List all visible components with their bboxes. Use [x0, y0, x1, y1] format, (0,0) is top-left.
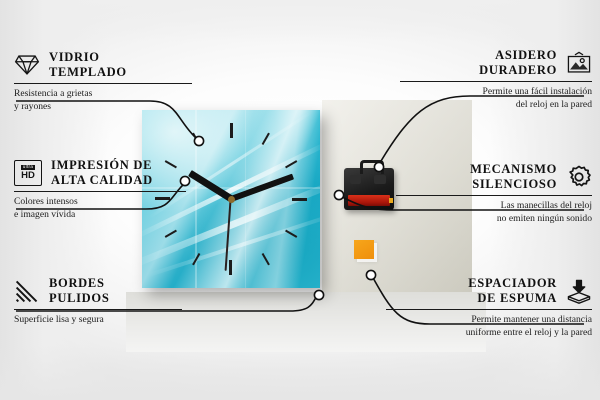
feature-title: PULIDOS [49, 291, 109, 306]
feature-title: SILENCIOSO [396, 177, 557, 192]
clock-center-hub [228, 196, 235, 203]
feature-title: ESPACIADOR [386, 276, 557, 291]
feature-bordes-pulidos: BORDES PULIDOS Superficie lisa y segura [14, 276, 182, 326]
feature-desc: e imagen vívida [14, 209, 186, 221]
feature-title: DE ESPUMA [386, 291, 557, 306]
mechanism-knob-2 [374, 175, 386, 184]
diagonal-lines-icon [14, 278, 40, 304]
background-gradient-bottom [0, 345, 600, 400]
divider [14, 191, 186, 192]
feature-desc: y rayones [14, 101, 192, 113]
divider [396, 195, 592, 196]
feature-title: IMPRESIÓN DE [51, 158, 153, 173]
feature-title: TEMPLADO [49, 65, 127, 80]
divider [400, 81, 592, 82]
feature-title: BORDES [49, 276, 109, 291]
feature-impresion-alta-calidad: ultra HD IMPRESIÓN DE ALTA CALIDAD Color… [14, 158, 186, 221]
feature-title: ALTA CALIDAD [51, 173, 153, 188]
foam-spacer-arrow-icon [566, 278, 592, 304]
clock-mechanism [344, 168, 394, 210]
feature-desc: Permite una fácil instalación [400, 86, 592, 98]
diamond-icon [14, 52, 40, 78]
feature-mecanismo-silencioso: MECANISMO SILENCIOSO Las manecillas del … [396, 162, 592, 225]
picture-hanger-icon [566, 50, 592, 76]
feature-desc: del reloj en la pared [400, 99, 592, 111]
divider [14, 83, 192, 84]
feature-vidrio-templado: VIDRIO TEMPLADO Resistencia a grietas y … [14, 50, 192, 113]
feature-desc: Superficie lisa y segura [14, 314, 182, 326]
mechanism-knob [350, 175, 361, 184]
feature-title: MECANISMO [396, 162, 557, 177]
feature-desc: Permite mantener una distancia [386, 314, 592, 326]
battery [348, 195, 390, 206]
feature-desc: Las manecillas del reloj [396, 200, 592, 212]
gear-icon [566, 164, 592, 190]
background-gradient-top [0, 0, 600, 42]
ultra-hd-icon-label-main: HD [21, 171, 35, 181]
feature-desc: uniforme entre el reloj y la pared [386, 327, 592, 339]
infographic-stage: VIDRIO TEMPLADO Resistencia a grietas y … [0, 0, 600, 400]
clock-tick [231, 198, 307, 200]
clock-tick [230, 123, 232, 199]
feature-desc: Colores intensos [14, 196, 186, 208]
feature-title: VIDRIO [49, 50, 127, 65]
foam-spacer-pad [354, 240, 374, 259]
feature-asidero-duradero: ASIDERO DURADERO Permite una fácil insta… [400, 48, 592, 111]
feature-title: DURADERO [400, 63, 557, 78]
feature-desc: Resistencia a grietas [14, 88, 192, 100]
feature-desc: no emiten ningún sonido [396, 213, 592, 225]
ultra-hd-icon: ultra HD [14, 160, 42, 186]
divider [386, 309, 592, 310]
feature-title: ASIDERO [400, 48, 557, 63]
divider [14, 309, 182, 310]
feature-espaciador-de-espuma: ESPACIADOR DE ESPUMA Permite mantener un… [386, 276, 592, 339]
mechanism-hanger-loop [360, 160, 384, 174]
